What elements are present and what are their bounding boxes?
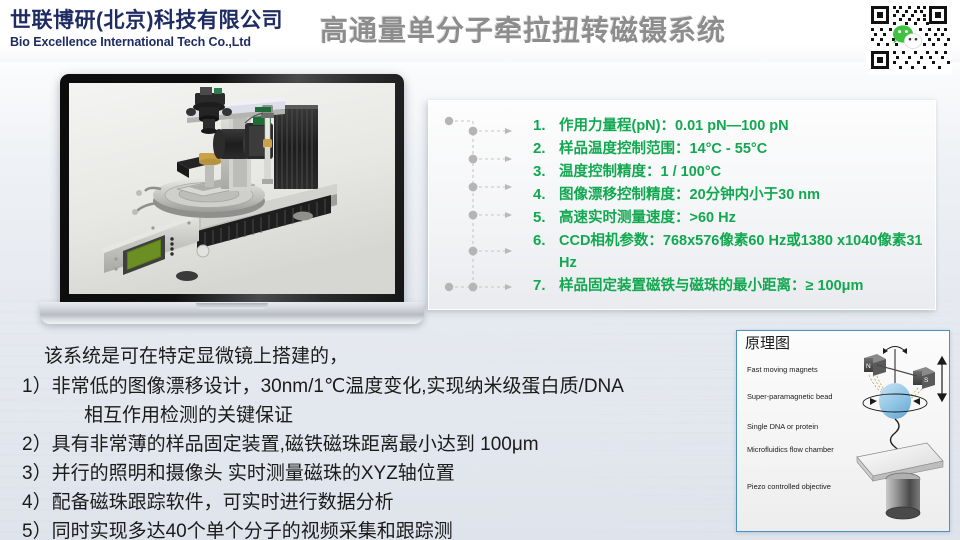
spec-item-text: 样品温度控制范围：14°C - 55°C xyxy=(559,138,933,160)
description-line-2: 2）具有非常薄的样品固定装置,磁铁磁珠距离最小达到 100μm xyxy=(22,430,722,459)
spec-item-number: 1. xyxy=(533,115,559,137)
spec-item-number: 2. xyxy=(533,138,559,160)
specifications-panel: 1. 作用力量程(pN)：0.01 pN—100 pN 2. 样品温度控制范围：… xyxy=(428,100,936,310)
spec-item-text: 作用力量程(pN)：0.01 pN—100 pN xyxy=(559,115,933,137)
svg-text:N: N xyxy=(866,363,871,370)
description-block: 该系统是可在特定显微镜上搭建的， 1）非常低的图像漂移设计，30nm/1℃温度变… xyxy=(22,342,722,540)
spec-item-text: 图像漂移控制精度：20分钟内小于30 nm xyxy=(559,184,933,206)
magnet-south: S xyxy=(913,367,935,389)
diagram-label-4: Piezo controlled objective xyxy=(747,482,831,491)
spec-item: 5. 高速实时测量速度：>60 Hz xyxy=(533,207,933,229)
diagram-label-1: Super-paramagnetic bead xyxy=(747,392,832,401)
specifications-list: 1. 作用力量程(pN)：0.01 pN—100 pN 2. 样品温度控制范围：… xyxy=(533,115,933,298)
spec-item: 1. 作用力量程(pN)：0.01 pN—100 pN xyxy=(533,115,933,137)
slide-header: 世联博研(北京)科技有限公司 Bio Excellence Internatio… xyxy=(0,0,960,62)
spec-item: 3. 温度控制精度：1 / 100°C xyxy=(533,161,933,183)
company-name-en: Bio Excellence International Tech Co.,Lt… xyxy=(10,34,310,50)
description-line-3: 3）并行的照明和摄像头 实时测量磁珠的XYZ轴位置 xyxy=(22,459,722,488)
spec-item-number: 7. xyxy=(533,275,559,297)
laptop-lid xyxy=(60,74,404,306)
spec-item-text: 温度控制精度：1 / 100°C xyxy=(559,161,933,183)
description-line-1: 1）非常低的图像漂移设计，30nm/1℃温度变化,实现纳米级蛋白质/DNA xyxy=(22,372,722,401)
description-line-1-cont: 相互作用检测的关键保证 xyxy=(22,401,722,430)
paramagnetic-bead xyxy=(879,383,911,419)
wechat-qr-code-icon xyxy=(866,2,952,74)
instrument-photo xyxy=(69,83,395,294)
diagram-label-2: Single DNA or protein xyxy=(747,422,818,431)
page-title: 高通量单分子牵拉扭转磁镊系统 xyxy=(320,14,840,48)
magnetic-tweezers-device-illustration xyxy=(69,83,395,294)
description-lead: 该系统是可在特定显微镜上搭建的， xyxy=(22,342,722,372)
svg-text:S: S xyxy=(924,377,929,384)
spec-item-number: 3. xyxy=(533,161,559,183)
magnet-north: N xyxy=(864,354,886,376)
spec-item: 4. 图像漂移控制精度：20分钟内小于30 nm xyxy=(533,184,933,206)
spec-item-number: 5. xyxy=(533,207,559,229)
spec-item-number: 6. xyxy=(533,230,559,252)
diagram-label-3: Microfluidics flow chamber xyxy=(747,445,834,454)
spec-item: 7. 样品固定装置磁铁与磁珠的最小距离：≥ 100μm xyxy=(533,275,933,297)
spec-item-text: 高速实时测量速度：>60 Hz xyxy=(559,207,933,229)
principle-diagram-panel: 原理图 Fast moving magnets Super-paramagnet… xyxy=(736,330,950,532)
magnetic-tweezers-schematic: Fast moving magnets Super-paramagnetic b… xyxy=(737,331,951,533)
description-line-4: 4）配备磁珠跟踪软件，可实时进行数据分析 xyxy=(22,488,722,517)
instrument-photo-laptop-mockup xyxy=(40,74,424,336)
company-logo: 世联博研(北京)科技有限公司 Bio Excellence Internatio… xyxy=(10,8,310,50)
laptop-notch xyxy=(196,303,268,309)
spec-item-number: 4. xyxy=(533,184,559,206)
description-line-5: 5）同时实现多达40个单个分子的视频采集和跟踪测 xyxy=(22,517,722,540)
timeline-connector-graphic xyxy=(429,101,529,311)
presentation-slide: 世联博研(北京)科技有限公司 Bio Excellence Internatio… xyxy=(0,0,960,540)
spec-item: 2. 样品温度控制范围：14°C - 55°C xyxy=(533,138,933,160)
company-name-cn: 世联博研(北京)科技有限公司 xyxy=(10,8,310,34)
piezo-controlled-objective xyxy=(886,473,920,519)
spec-item: 6. CCD相机参数：768x576像素60 Hz或1380 x1040像素31… xyxy=(533,230,933,274)
spec-item-text: CCD相机参数：768x576像素60 Hz或1380 x1040像素31 Hz xyxy=(559,230,933,274)
diagram-label-0: Fast moving magnets xyxy=(747,365,818,374)
spec-item-text: 样品固定装置磁铁与磁珠的最小距离：≥ 100μm xyxy=(559,275,933,297)
